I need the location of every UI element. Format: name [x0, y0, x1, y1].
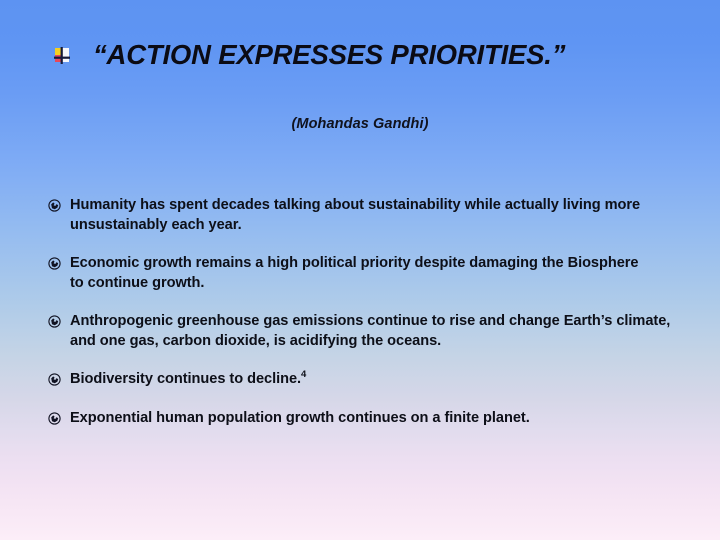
colored-quadrant-icon	[52, 46, 72, 66]
list-item-text: Humanity has spent decades talking about…	[70, 196, 670, 235]
list-item: Humanity has spent decades talking about…	[48, 196, 684, 235]
list-item: Economic growth remains a high political…	[48, 254, 684, 293]
globe-bullet-icon	[48, 373, 61, 386]
globe-bullet-icon	[48, 199, 61, 212]
presentation-slide: “ACTION EXPRESSES PRIORITIES.” (Mohandas…	[0, 0, 720, 540]
list-item-text: Anthropogenic greenhouse gas emissions c…	[70, 312, 674, 351]
list-item-text: Biodiversity continues to decline.4	[70, 370, 684, 390]
list-item: Exponential human population growth cont…	[48, 409, 684, 429]
slide-subtitle: (Mohandas Gandhi)	[0, 116, 720, 132]
footnote-marker: 4	[301, 369, 306, 380]
globe-bullet-icon	[48, 257, 61, 270]
bullet-list: Humanity has spent decades talking about…	[48, 196, 684, 447]
slide-title-row: “ACTION EXPRESSES PRIORITIES.”	[0, 36, 720, 78]
globe-bullet-icon	[48, 315, 61, 328]
list-item: Biodiversity continues to decline.4	[48, 370, 684, 390]
list-item: Anthropogenic greenhouse gas emissions c…	[48, 312, 684, 351]
page-title: “ACTION EXPRESSES PRIORITIES.”	[93, 36, 565, 74]
list-item-text: Exponential human population growth cont…	[70, 409, 684, 429]
globe-bullet-icon	[48, 412, 61, 425]
list-item-text: Economic growth remains a high political…	[70, 254, 652, 293]
